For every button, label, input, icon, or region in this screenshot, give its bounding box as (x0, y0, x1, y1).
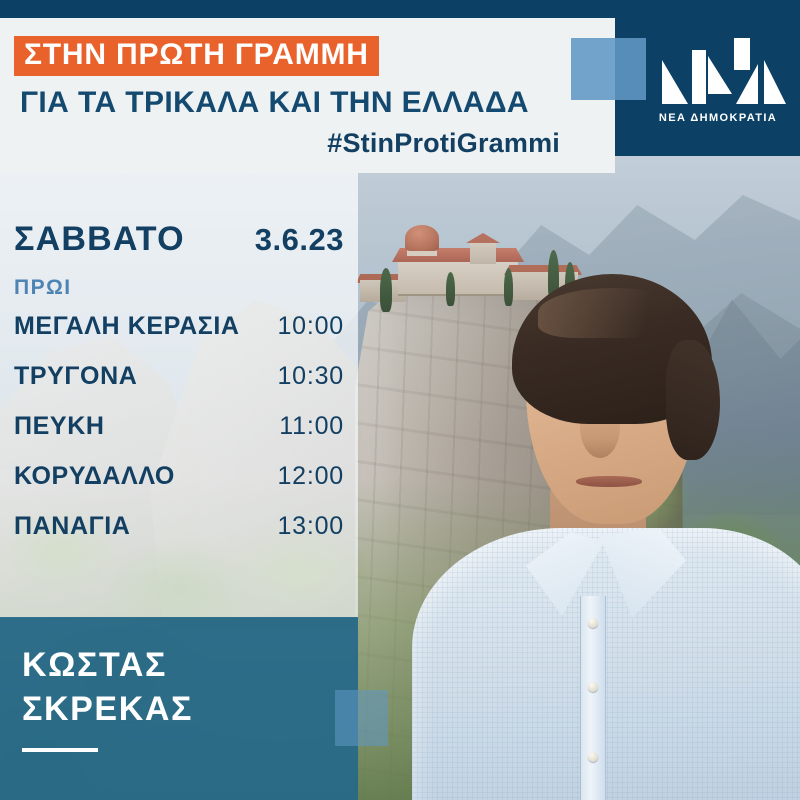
slogan-second-line: ΓΙΑ ΤΑ ΤΡΙΚΑΛΑ ΚΑΙ ΤΗΝ ΕΛΛΑΔΑ (20, 86, 529, 120)
stop-time: 10:30 (277, 362, 344, 391)
shirt-button (588, 618, 598, 628)
stop-time: 10:00 (277, 312, 344, 341)
candidate-last-name: ΣΚΡΕΚΑΣ (22, 690, 193, 729)
nea-dimokratia-logo: ΝΕΑ ΔΗΜΟΚΡΑΤΙΑ (648, 34, 788, 134)
logo-caption: ΝΕΑ ΔΗΜΟΚΡΑΤΙΑ (648, 112, 788, 124)
nd-logo-icon (648, 34, 788, 110)
list-item: ΤΡΥΓΟΝΑ 10:30 (14, 362, 344, 391)
candidate-portrait (430, 300, 800, 800)
schedule-date: 3.6.23 (255, 222, 344, 258)
list-item: ΠΑΝΑΓΙΑ 13:00 (14, 512, 344, 541)
hair-side (666, 340, 720, 460)
list-item: ΠΕΥΚΗ 11:00 (14, 412, 344, 441)
candidate-first-name: ΚΩΣΤΑΣ (22, 646, 167, 685)
accent-square-top (571, 38, 646, 100)
schedule-day: ΣΑΒΒΑΤΟ (14, 220, 185, 259)
stop-time: 13:00 (277, 512, 344, 541)
stop-name: ΠΑΝΑΓΙΑ (14, 512, 130, 541)
top-edge-band (0, 0, 800, 18)
monastery-dome (405, 225, 439, 251)
campaign-hashtag: #StinProtiGrammi (0, 128, 560, 159)
list-item: ΜΕΓΑΛΗ ΚΕΡΑΣΙΑ 10:00 (14, 312, 344, 341)
list-item: ΚΟΡΥΔΑΛΛΟ 12:00 (14, 462, 344, 491)
name-underline (22, 748, 98, 752)
stop-name: ΠΕΥΚΗ (14, 412, 105, 441)
slogan-highlight-box: ΣΤΗΝ ΠΡΩΤΗ ΓΡΑΜΜΗ (14, 36, 379, 76)
stop-time: 12:00 (277, 462, 344, 491)
cypress-tree (380, 268, 392, 312)
stop-name: ΤΡΥΓΟΝΑ (14, 362, 137, 391)
slogan-highlight-text: ΣΤΗΝ ΠΡΩΤΗ ΓΡΑΜΜΗ (24, 38, 369, 71)
stop-name: ΚΟΡΥΔΑΛΛΟ (14, 462, 175, 491)
campaign-poster: ΣΤΗΝ ΠΡΩΤΗ ΓΡΑΜΜΗ ΓΙΑ ΤΑ ΤΡΙΚΑΛΑ ΚΑΙ ΤΗΝ… (0, 0, 800, 800)
schedule-stop-list: ΜΕΓΑΛΗ ΚΕΡΑΣΙΑ 10:00 ΤΡΥΓΟΝΑ 10:30 ΠΕΥΚΗ… (14, 312, 344, 562)
hair-highlight (538, 288, 688, 338)
shirt-texture (412, 528, 800, 800)
schedule-block: ΣΑΒΒΑΤΟ 3.6.23 ΠΡΩΙ ΜΕΓΑΛΗ ΚΕΡΑΣΙΑ 10:00… (0, 172, 358, 618)
monastery-main-building (398, 258, 518, 296)
accent-square-bottom (335, 690, 388, 746)
stop-name: ΜΕΓΑΛΗ ΚΕΡΑΣΙΑ (14, 312, 240, 341)
stop-time: 11:00 (279, 412, 344, 441)
mouth (576, 476, 642, 487)
shirt-button (588, 682, 598, 692)
schedule-day-row: ΣΑΒΒΑΤΟ 3.6.23 (14, 220, 344, 259)
schedule-part-of-day: ΠΡΩΙ (14, 276, 71, 300)
shirt-button (588, 752, 598, 762)
monastery-tower (470, 240, 496, 264)
